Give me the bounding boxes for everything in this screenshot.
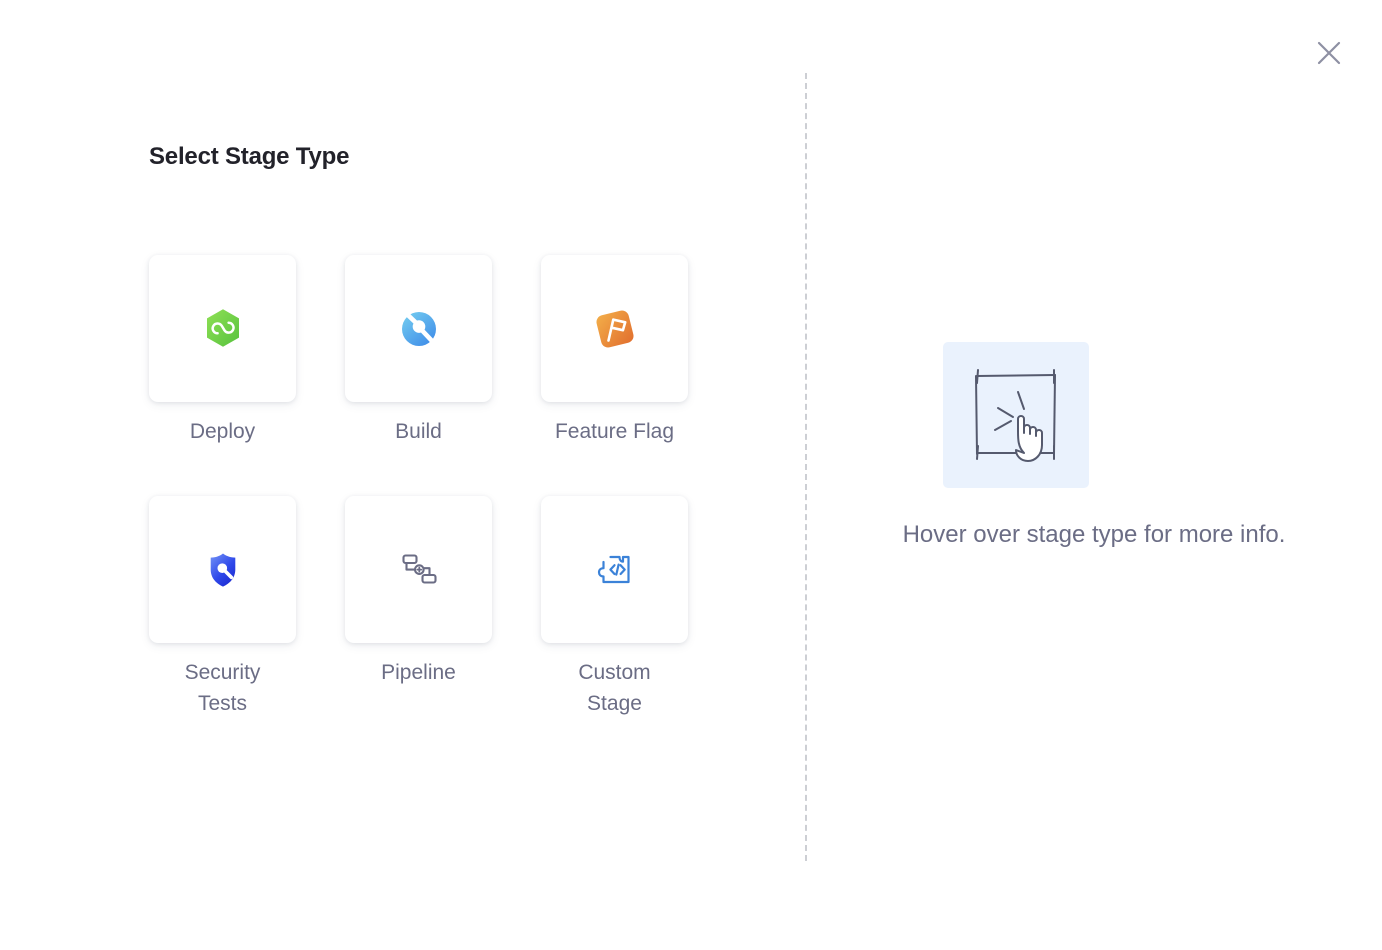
stage-type-label: Feature Flag (555, 416, 675, 447)
custom-stage-puzzle-code-icon (591, 546, 639, 594)
stage-card-build[interactable] (345, 255, 492, 402)
stage-type-label: Pipeline (359, 657, 479, 688)
stage-type-picker-pane: Select Stage Type (0, 0, 805, 950)
stage-type-label: Build (359, 416, 479, 447)
select-stage-type-dialog: Select Stage Type (0, 0, 1382, 950)
pipeline-nodes-icon (395, 546, 443, 594)
stage-type-option-feature-flag[interactable]: Feature Flag (541, 255, 688, 447)
deploy-hexagon-infinity-icon (199, 305, 247, 353)
feature-flag-icon (591, 305, 639, 353)
stage-card-deploy[interactable] (149, 255, 296, 402)
stage-type-option-custom-stage[interactable]: Custom Stage (541, 496, 688, 719)
stage-card-feature-flag[interactable] (541, 255, 688, 402)
stage-type-grid: Deploy (149, 255, 689, 719)
stage-card-security-tests[interactable] (149, 496, 296, 643)
stage-type-option-build[interactable]: Build (345, 255, 492, 447)
stage-type-option-security-tests[interactable]: Security Tests (149, 496, 296, 719)
stage-info-pane: Hover over stage type for more info. (806, 0, 1382, 950)
stage-type-option-deploy[interactable]: Deploy (149, 255, 296, 447)
stage-card-pipeline[interactable] (345, 496, 492, 643)
stage-type-label: Security Tests (163, 657, 283, 719)
stage-type-label: Deploy (163, 416, 283, 447)
page-title: Select Stage Type (149, 143, 349, 171)
click-hand-illustration (943, 342, 1089, 488)
security-shield-magnifier-icon (199, 546, 247, 594)
stage-type-option-pipeline[interactable]: Pipeline (345, 496, 492, 719)
stage-type-label: Custom Stage (555, 657, 675, 719)
hover-hint-text: Hover over stage type for more info. (830, 516, 1358, 553)
stage-card-custom-stage[interactable] (541, 496, 688, 643)
build-circle-magnifier-icon (395, 305, 443, 353)
